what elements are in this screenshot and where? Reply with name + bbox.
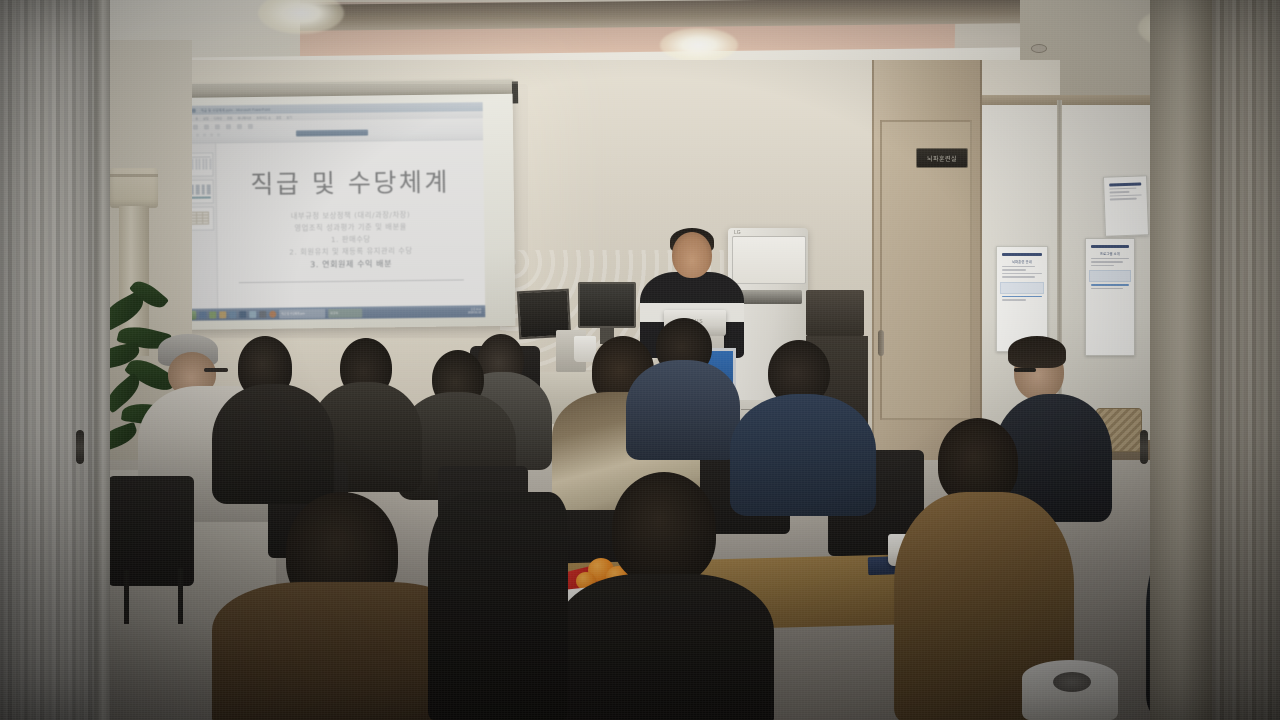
tab-home[interactable]: 홈 bbox=[195, 116, 198, 120]
accordion-door-right[interactable] bbox=[1212, 0, 1280, 720]
font-icon[interactable] bbox=[204, 125, 209, 130]
audience-head bbox=[612, 472, 716, 584]
paragraph-icon[interactable] bbox=[215, 124, 220, 129]
door-sign: 뇌파훈련실 bbox=[916, 148, 968, 168]
tab-review[interactable]: 검토 bbox=[276, 115, 282, 119]
align-center-icon[interactable] bbox=[210, 133, 213, 136]
ac-brand-label: LG bbox=[734, 230, 741, 236]
sprinkler-icon bbox=[1031, 44, 1047, 53]
desktop-monitor bbox=[578, 282, 636, 328]
ceiling-light-icon bbox=[660, 28, 738, 62]
ac-vent bbox=[734, 290, 802, 304]
printer bbox=[806, 290, 864, 336]
slide-canvas[interactable]: 직급 및 수당체계 내부규정 보상정책 (대리/과장/차장) 영업조직 성과평가… bbox=[216, 140, 485, 308]
wall-poster bbox=[1103, 175, 1149, 236]
door-jamb bbox=[96, 0, 110, 720]
audience-body bbox=[212, 384, 334, 504]
audience-body bbox=[626, 360, 740, 460]
taskbar-clock[interactable]: 오후 8:14 2018-01-18 bbox=[468, 308, 483, 314]
eyeglasses-icon bbox=[1014, 368, 1036, 372]
ribbon-icon-group bbox=[182, 124, 253, 130]
messenger-icon[interactable] bbox=[229, 311, 236, 318]
taskbar-window-button[interactable]: 직급 및 수당체계.pptx bbox=[279, 309, 325, 319]
windows-taskbar[interactable]: 직급 및 수당체계.pptx 내 문서 오후 8:14 2018-01-18 bbox=[180, 305, 485, 321]
music-icon[interactable] bbox=[239, 311, 246, 318]
redo-icon[interactable] bbox=[192, 108, 196, 112]
media-player-icon[interactable] bbox=[219, 311, 226, 318]
ribbon-highlight-band bbox=[296, 130, 368, 137]
presenter-head bbox=[672, 232, 712, 278]
align-left-icon[interactable] bbox=[203, 134, 206, 137]
powerpoint-window[interactable]: 직급 및 수당체계.pptx - Microsoft PowerPoint 파일… bbox=[178, 102, 486, 321]
tab-insert[interactable]: 삽입 bbox=[203, 116, 209, 120]
door-handle[interactable] bbox=[76, 430, 84, 464]
tab-slideshow[interactable]: 슬라이드 쇼 bbox=[256, 115, 271, 119]
seminar-room-photo: 직급 및 수당체계.pptx - Microsoft PowerPoint 파일… bbox=[0, 0, 1280, 720]
powerpoint-window-title: 직급 및 수당체계.pptx - Microsoft PowerPoint bbox=[201, 107, 271, 113]
bullets-icon[interactable] bbox=[217, 133, 220, 136]
editing-icon[interactable] bbox=[248, 124, 253, 129]
column-capital bbox=[110, 168, 158, 208]
audience-body bbox=[428, 492, 568, 720]
wall-poster: 프로그램 소개 bbox=[1085, 238, 1135, 356]
shapes-icon[interactable] bbox=[226, 124, 231, 129]
door-handle[interactable] bbox=[878, 330, 884, 356]
underline-icon[interactable] bbox=[196, 134, 199, 137]
door-sign-label: 뇌파훈련실 bbox=[927, 154, 957, 163]
eyeglasses-icon bbox=[204, 368, 228, 372]
poster-title: 뇌파훈련 안내 bbox=[1000, 259, 1044, 264]
tissue-roll-hole bbox=[1053, 672, 1091, 692]
accordion-door-right-inner[interactable] bbox=[1150, 0, 1212, 720]
glass-room-frame bbox=[982, 95, 1160, 105]
door-handle[interactable] bbox=[1140, 430, 1148, 464]
new-slide-icon[interactable] bbox=[193, 125, 198, 130]
tab-design[interactable]: 디자인 bbox=[214, 116, 222, 120]
taskbar-window-button[interactable]: 내 문서 bbox=[328, 308, 362, 317]
firefox-icon[interactable] bbox=[269, 310, 276, 317]
tab-view[interactable]: 보기 bbox=[286, 115, 292, 119]
arrange-icon[interactable] bbox=[237, 124, 242, 129]
accordion-door-left[interactable] bbox=[0, 0, 96, 720]
audience-hair bbox=[1008, 336, 1066, 368]
shield-icon[interactable] bbox=[249, 310, 256, 317]
slide-body-line-emphasis: 3. 연회원제 수익 배분 bbox=[289, 257, 413, 272]
slide-title: 직급 및 수당체계 bbox=[250, 163, 450, 201]
slide-divider bbox=[239, 279, 464, 283]
tab-transitions[interactable]: 전환 bbox=[227, 116, 233, 120]
audience-body bbox=[730, 394, 876, 516]
network-icon[interactable] bbox=[259, 310, 266, 317]
slide-body: 내부규정 보상정책 (대리/과장/차장) 영업조직 성과평가 기준 및 배분율 … bbox=[289, 209, 413, 271]
audience-body-black-puffer bbox=[556, 574, 774, 720]
poster-title: 프로그램 소개 bbox=[1089, 251, 1131, 256]
tab-animations[interactable]: 애니메이션 bbox=[237, 115, 251, 119]
